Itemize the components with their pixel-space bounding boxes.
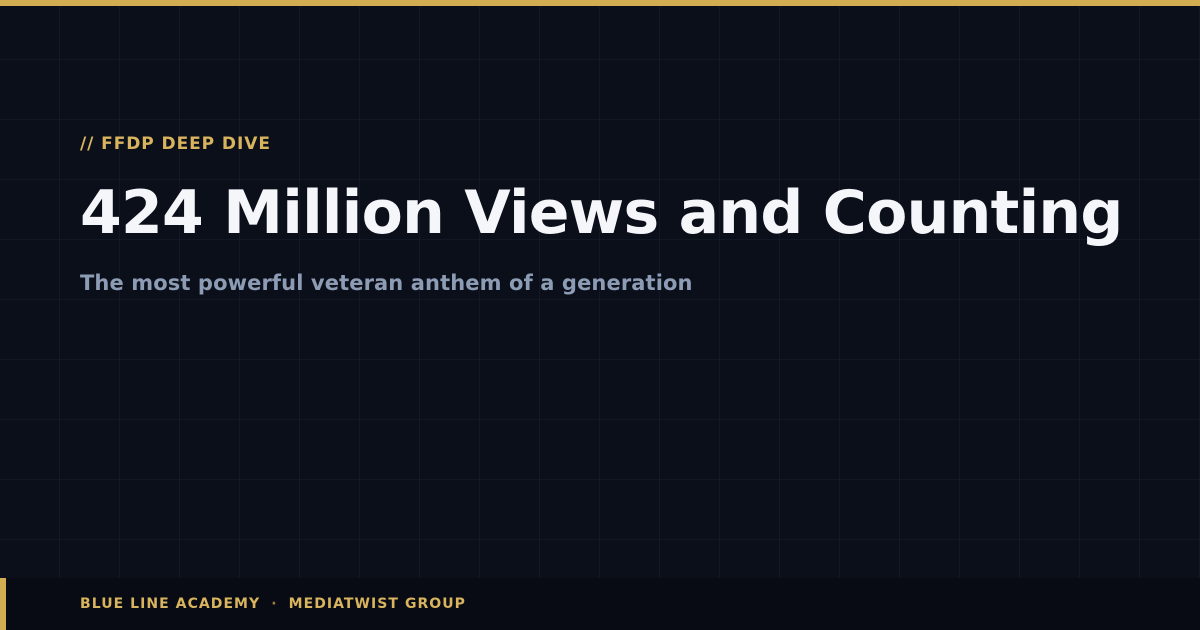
footer-credits: BLUE LINE ACADEMY · MEDIATWIST GROUP: [80, 578, 466, 630]
footer-brand-primary: BLUE LINE ACADEMY: [80, 596, 260, 612]
title-card: // FFDP DEEP DIVE 424 Million Views and …: [0, 0, 1200, 630]
footer-accent-stripe: [0, 578, 6, 630]
subtitle-text: The most powerful veteran anthem of a ge…: [80, 270, 1120, 297]
page-title: 424 Million Views and Counting: [80, 182, 1120, 246]
footer-separator-dot: ·: [271, 596, 277, 612]
footer-brand-secondary: MEDIATWIST GROUP: [289, 596, 466, 612]
footer-band: BLUE LINE ACADEMY · MEDIATWIST GROUP: [0, 578, 1200, 630]
top-accent-bar: [0, 0, 1200, 6]
hero-content: // FFDP DEEP DIVE 424 Million Views and …: [80, 134, 1120, 297]
eyebrow-label: // FFDP DEEP DIVE: [80, 134, 1120, 154]
